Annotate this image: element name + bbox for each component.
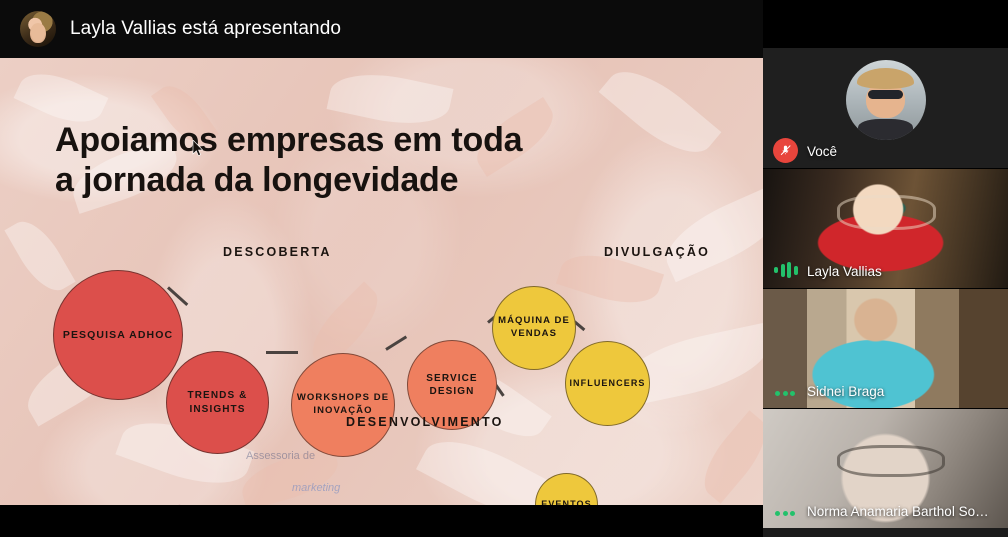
shared-screen-slide[interactable]: Apoiamos empresas em toda a jornada da l… (0, 58, 763, 505)
phase-label-desenvolvimento: DESENVOLVIMENTO (346, 415, 504, 429)
faint-text-marketing: marketing (292, 482, 340, 494)
mouse-cursor-icon (192, 140, 204, 157)
connector-2 (266, 351, 298, 354)
node-trends-insights[interactable]: TRENDS & INSIGHTS (166, 351, 269, 454)
presenting-topbar: Layla Vallias está apresentando (0, 0, 763, 58)
phase-label-descoberta: DESCOBERTA (223, 245, 332, 259)
node-label: EVENTOS (541, 498, 592, 505)
node-label: PESQUISA ADHOC (63, 328, 173, 342)
node-workshops-inovacao[interactable]: WORKSHOPS DE INOVAÇÃO (291, 353, 395, 457)
presenting-label: Layla Vallias está apresentando (70, 18, 341, 40)
faint-text-assessoria: Assessoria de (246, 450, 315, 462)
participant-name: Você (807, 144, 837, 159)
audio-idle-icon (775, 391, 795, 396)
avatar (846, 60, 926, 140)
participant-tile-norma-anamaria[interactable]: Norma Anamaria Barthol So… (763, 408, 1008, 528)
participant-tile-sidnei-braga[interactable]: Sidnei Braga (763, 288, 1008, 408)
node-label: SERVICE DESIGN (408, 372, 496, 399)
slide-title: Apoiamos empresas em toda a jornada da l… (55, 120, 575, 200)
node-pesquisa-adhoc[interactable]: PESQUISA ADHOC (53, 270, 183, 400)
participant-name: Layla Vallias (807, 264, 882, 279)
slide-title-line-1: Apoiamos empresas em toda (55, 120, 575, 160)
video-feed (763, 169, 1008, 288)
presenter-avatar (20, 11, 56, 47)
node-influencers[interactable]: INFLUENCERS (565, 341, 650, 426)
participant-name: Norma Anamaria Barthol So… (807, 504, 989, 519)
participant-tile-layla-vallias[interactable]: Layla Vallias (763, 168, 1008, 288)
audio-idle-icon (775, 511, 795, 516)
node-label: TRENDS & INSIGHTS (167, 389, 268, 416)
video-feed (763, 289, 1008, 408)
node-maquina-de-vendas[interactable]: MÁQUINA DE VENDAS (492, 286, 576, 370)
slide-title-line-2: a jornada da longevidade (55, 160, 575, 200)
audio-speaking-icon (774, 262, 798, 278)
meet-window: Layla Vallias está apresentando Apoiamos… (0, 0, 1008, 537)
participant-name: Sidnei Braga (807, 384, 884, 399)
participants-panel: Você Layla Vallias Sidnei Braga Norma An… (763, 48, 1008, 537)
node-label: INFLUENCERS (569, 377, 645, 389)
mic-muted-icon (773, 138, 798, 163)
node-label: MÁQUINA DE VENDAS (493, 315, 575, 341)
participant-tile-voce[interactable]: Você (763, 48, 1008, 168)
phase-label-divulgacao: DIVULGAÇÃO (604, 245, 710, 259)
node-label: WORKSHOPS DE INOVAÇÃO (292, 392, 394, 418)
